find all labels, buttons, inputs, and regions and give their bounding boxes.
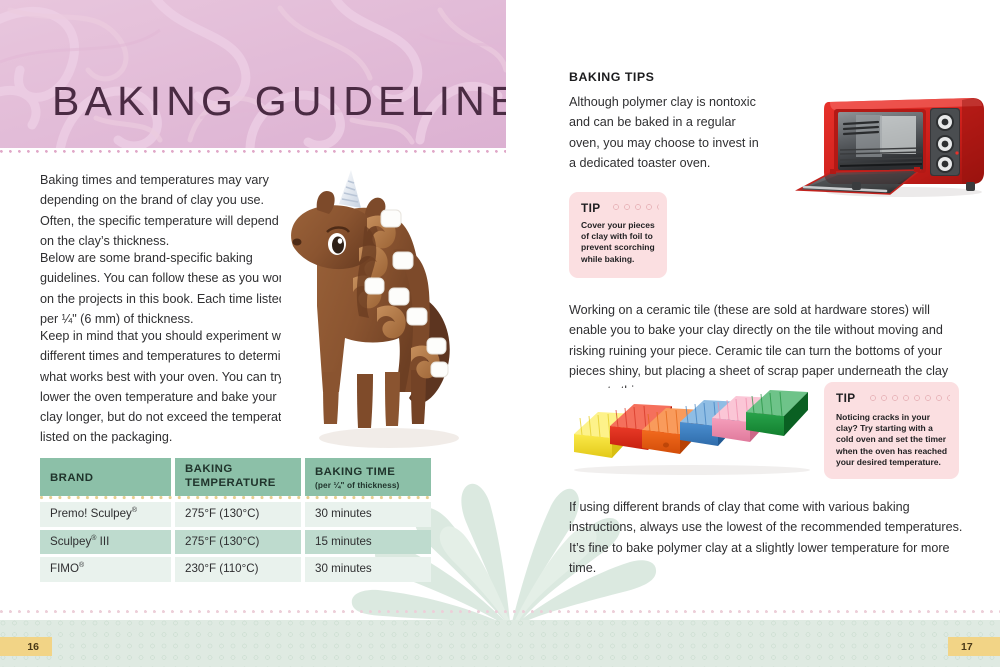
footer-dot-pattern (0, 620, 1000, 667)
tip-label: TIP (581, 201, 601, 215)
table-header-brand: BRAND (40, 458, 171, 496)
chapter-header-banner: BAKING GUIDELINES (0, 0, 506, 148)
page-number-left: 16 (0, 637, 52, 656)
decorative-swirl-pattern (0, 0, 506, 148)
cell-time: 30 minutes (305, 557, 431, 582)
cell-brand: FIMO® (40, 557, 171, 582)
table-header-brand-label: BRAND (50, 463, 161, 486)
footer-dotted-divider (0, 610, 1000, 614)
clay-bars-photo (562, 388, 820, 476)
tip-text: Cover your pieces of clay with foil to p… (581, 220, 659, 265)
table-row: FIMO® 230°F (110°C) 30 minutes (40, 557, 431, 582)
cell-brand: Sculpey® III (40, 530, 171, 555)
baking-guidelines-table: BRAND BAKINGTEMPERATURE BAKING TIME (per… (40, 458, 431, 582)
cell-time: 15 minutes (305, 530, 431, 555)
tip-box: TIP Noticing cracks in your clay? Try st… (824, 382, 959, 479)
footer-band: 16 17 (0, 620, 1000, 667)
left-paragraph-1: Baking times and temperatures may vary d… (40, 170, 295, 251)
table-dotted-divider (40, 496, 431, 500)
tip-dot-decoration (613, 203, 659, 212)
cell-temperature: 230°F (110°C) (175, 557, 301, 582)
table-header-time-sub: (per ¼" of thickness) (315, 480, 421, 490)
table-header-time: BAKING TIME (per ¼" of thickness) (305, 458, 431, 496)
cell-time: 30 minutes (305, 502, 431, 527)
right-paragraph-3: If using different brands of clay that c… (569, 497, 969, 578)
header-dotted-divider (0, 150, 506, 154)
table-header-temperature-label: BAKINGTEMPERATURE (185, 463, 291, 490)
tip-box: TIP Cover your pieces of clay with foil … (569, 192, 667, 278)
left-paragraph-2: Below are some brand-specific baking gui… (40, 248, 302, 329)
unicorn-figurine-photo (281, 166, 501, 458)
tip-text: Noticing cracks in your clay? Try starti… (836, 412, 948, 468)
book-spread: BAKING GUIDELINES Baking times and tempe… (0, 0, 1000, 667)
left-paragraph-3: Keep in mind that you should experiment … (40, 326, 300, 448)
section-heading: BAKING TIPS (569, 70, 654, 84)
toaster-oven-photo (794, 88, 990, 198)
tip-label: TIP (836, 391, 856, 405)
table-header-time-label: BAKING TIME (315, 463, 421, 480)
tip-dot-decoration (870, 394, 950, 403)
table-row: Sculpey® III 275°F (130°C) 15 minutes (40, 530, 431, 555)
cell-brand: Premo! Sculpey® (40, 502, 171, 527)
table-header-temperature: BAKINGTEMPERATURE (175, 458, 301, 496)
cell-temperature: 275°F (130°C) (175, 502, 301, 527)
cell-temperature: 275°F (130°C) (175, 530, 301, 555)
table-row: Premo! Sculpey® 275°F (130°C) 30 minutes (40, 502, 431, 527)
table-header-row: BRAND BAKINGTEMPERATURE BAKING TIME (per… (40, 458, 431, 496)
page-number-right: 17 (948, 637, 1000, 656)
page-title: BAKING GUIDELINES (52, 79, 506, 123)
right-paragraph-1: Although polymer clay is nontoxic and ca… (569, 92, 759, 173)
